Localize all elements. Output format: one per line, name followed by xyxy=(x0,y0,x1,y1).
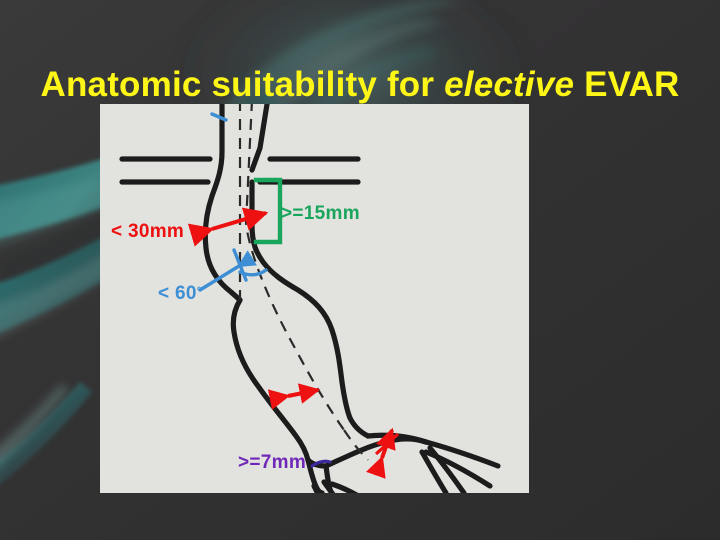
annotation-neck-angle-value: < 60 xyxy=(158,283,197,304)
annotation-neck-diameter: < 30mm xyxy=(111,221,184,243)
annotation-neck-angle: < 60° xyxy=(158,283,202,305)
title-suffix: EVAR xyxy=(574,65,679,104)
title-prefix: Anatomic suitability for xyxy=(40,65,444,104)
slide-canvas: Anatomic suitability for elective EVAR xyxy=(0,0,720,540)
slide-title: Anatomic suitability for elective EVAR xyxy=(0,64,720,106)
annotation-iliac-diameter: >=7mm xyxy=(238,452,306,474)
annotation-neck-length: >=15mm xyxy=(281,203,360,225)
title-emphasis: elective xyxy=(444,65,574,104)
aortic-anatomy-diagram: < 30mm >=15mm < 60° >=7mm xyxy=(100,104,529,493)
degree-symbol: ° xyxy=(197,284,202,298)
